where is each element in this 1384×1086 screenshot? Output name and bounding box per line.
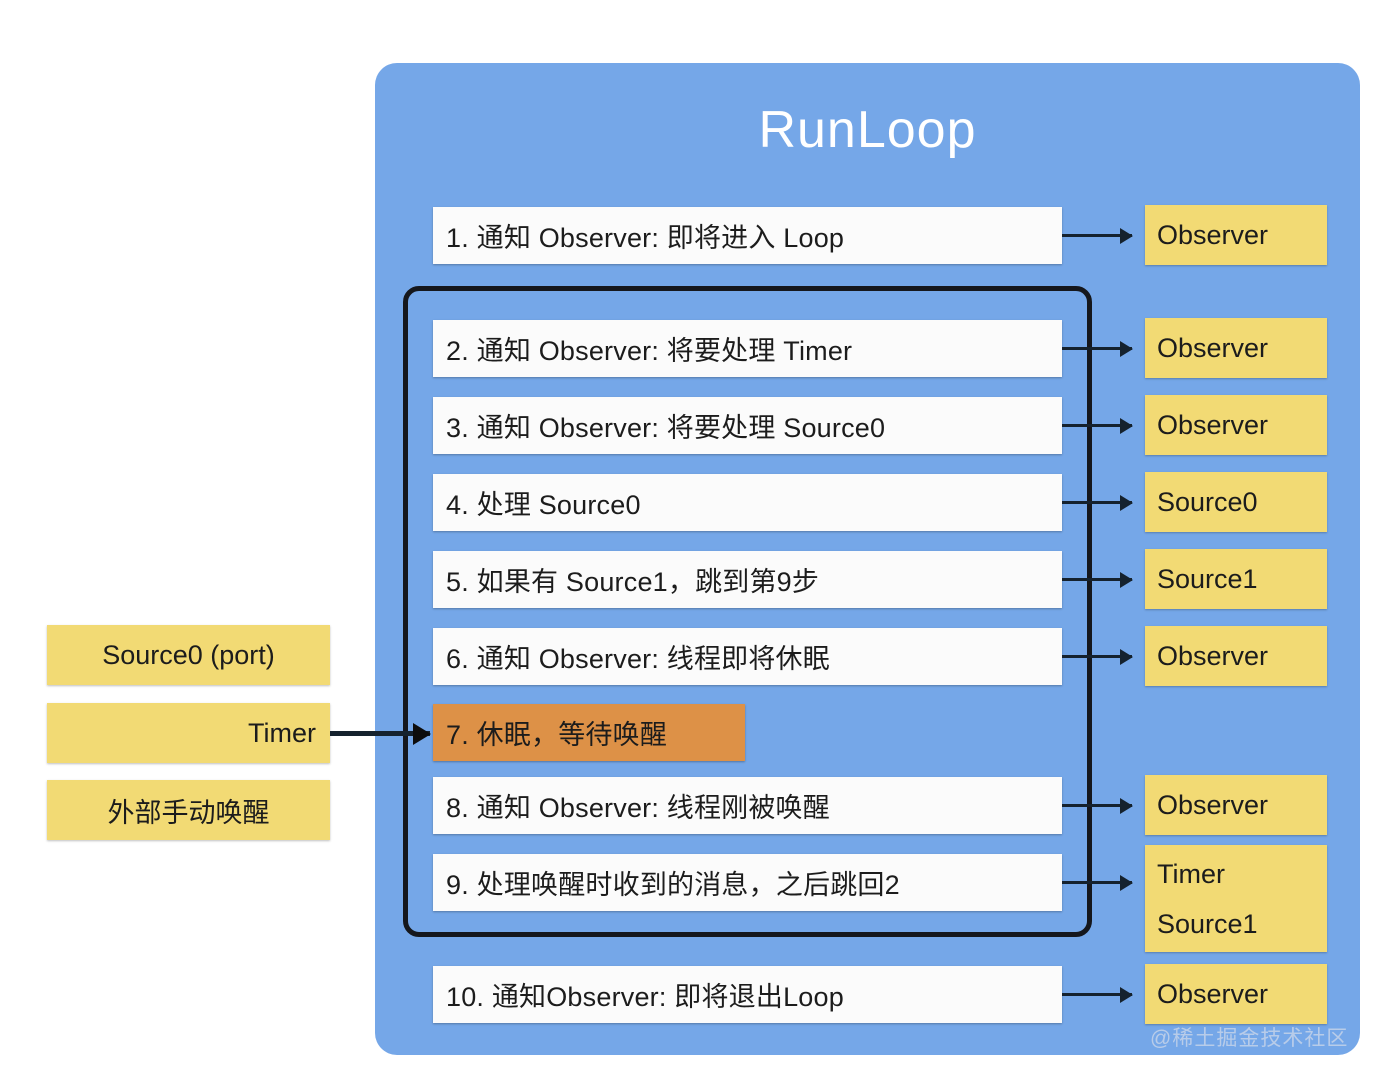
page-title: RunLoop [375,100,1360,160]
arrow-step3-to-observer [1062,424,1132,427]
output-chip-source1[interactable]: Source1 [1145,549,1327,609]
arrow-step9-to-timer-source1 [1062,881,1132,884]
output-chip-label: Observer [1157,333,1268,364]
output-chip-label: Observer [1157,790,1268,821]
arrow-step4-to-source0 [1062,501,1132,504]
step-row-10[interactable]: 10. 通知Observer: 即将退出Loop [433,966,1062,1023]
output-chip-label-line1: Timer [1157,849,1225,899]
step-label: 9. 处理唤醒时收到的消息，之后跳回2 [446,863,900,902]
input-chip-manual-wake[interactable]: 外部手动唤醒 [47,780,330,840]
step-row-8[interactable]: 8. 通知 Observer: 线程刚被唤醒 [433,777,1062,834]
arrow-step2-to-observer [1062,347,1132,350]
watermark: @稀土掘金技术社区 [1150,1022,1348,1052]
arrow-step5-to-source1 [1062,578,1132,581]
arrow-step6-to-observer [1062,655,1132,658]
output-chip-observer-8[interactable]: Observer [1145,775,1327,835]
input-chip-label: Source0 (port) [102,640,275,671]
output-chip-observer-1[interactable]: Observer [1145,205,1327,265]
input-chip-timer[interactable]: Timer [47,703,330,763]
step-label: 7. 休眠，等待唤醒 [446,713,667,752]
step-label: 10. 通知Observer: 即将退出Loop [446,975,844,1014]
output-chip-label: Observer [1157,979,1268,1010]
step-row-6[interactable]: 6. 通知 Observer: 线程即将休眠 [433,628,1062,685]
output-chip-label-line2: Source1 [1157,899,1258,949]
output-chip-source0[interactable]: Source0 [1145,472,1327,532]
input-chip-label: Timer [248,718,316,749]
step-label: 8. 通知 Observer: 线程刚被唤醒 [446,786,830,825]
diagram-canvas: RunLoop Source0 (port) Timer 外部手动唤醒 1. 通… [0,0,1384,1086]
arrow-timer-to-step7 [330,731,430,736]
output-chip-observer-6[interactable]: Observer [1145,626,1327,686]
step-row-7-sleep[interactable]: 7. 休眠，等待唤醒 [433,704,745,761]
step-label: 2. 通知 Observer: 将要处理 Timer [446,329,852,368]
output-chip-label: Observer [1157,641,1268,672]
output-chip-label: Source1 [1157,564,1258,595]
step-row-9[interactable]: 9. 处理唤醒时收到的消息，之后跳回2 [433,854,1062,911]
step-label: 5. 如果有 Source1，跳到第9步 [446,560,819,599]
output-chip-observer-10[interactable]: Observer [1145,964,1327,1024]
step-label: 6. 通知 Observer: 线程即将休眠 [446,637,830,676]
step-row-2[interactable]: 2. 通知 Observer: 将要处理 Timer [433,320,1062,377]
arrow-step8-to-observer [1062,804,1132,807]
arrow-step10-to-observer [1062,993,1132,996]
step-row-1[interactable]: 1. 通知 Observer: 即将进入 Loop [433,207,1062,264]
input-chip-label: 外部手动唤醒 [108,791,270,830]
output-chip-label: Source0 [1157,487,1258,518]
input-chip-source0-port[interactable]: Source0 (port) [47,625,330,685]
output-chip-label: Observer [1157,410,1268,441]
step-label: 4. 处理 Source0 [446,483,641,522]
arrow-step1-to-observer [1062,234,1132,237]
step-label: 1. 通知 Observer: 即将进入 Loop [446,216,844,255]
output-chip-label: Observer [1157,220,1268,251]
output-chip-timer-source1[interactable]: Timer Source1 [1145,845,1327,952]
output-chip-observer-2[interactable]: Observer [1145,318,1327,378]
output-chip-observer-3[interactable]: Observer [1145,395,1327,455]
step-row-3[interactable]: 3. 通知 Observer: 将要处理 Source0 [433,397,1062,454]
step-row-4[interactable]: 4. 处理 Source0 [433,474,1062,531]
step-row-5[interactable]: 5. 如果有 Source1，跳到第9步 [433,551,1062,608]
loop-cycle-border [403,286,1092,937]
step-label: 3. 通知 Observer: 将要处理 Source0 [446,406,885,445]
